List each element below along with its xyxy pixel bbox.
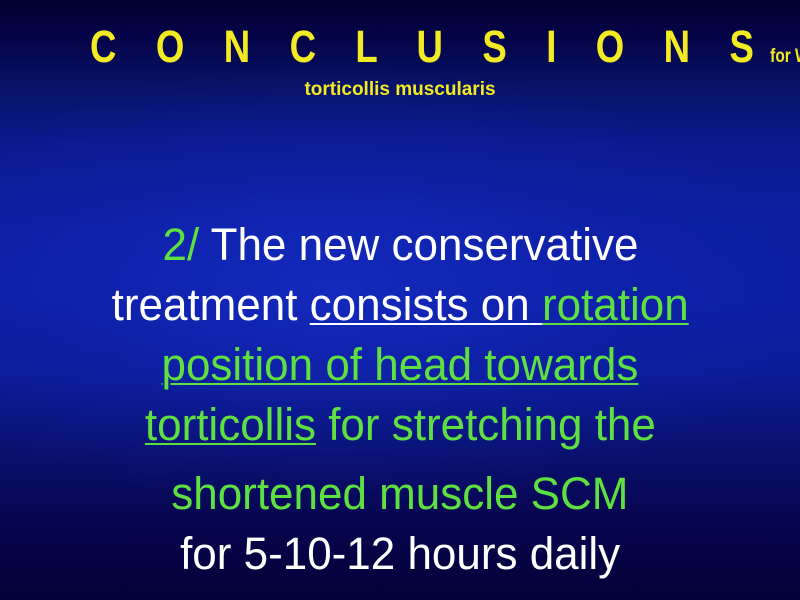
- body-line-5: shortened muscle SCM: [171, 464, 628, 524]
- body-text-run: 2/: [162, 219, 199, 270]
- body-line-6: for 5-10-12 hours daily: [180, 524, 620, 584]
- body-text-run: consists on: [310, 279, 530, 330]
- slide-body: 2/ The new conservative treatment consis…: [0, 215, 800, 584]
- page-subtitle: torticollis muscularis: [0, 80, 800, 99]
- header-title-row: C O N C L U S I O N Sfor Wry neck /: [90, 24, 800, 69]
- body-text-run: torticollis: [145, 399, 316, 450]
- body-line-4: torticollis for stretching the: [145, 395, 656, 455]
- body-text-run: shortened muscle SCM: [171, 468, 628, 519]
- body-text-run: [530, 279, 542, 330]
- body-text-run: treatment: [111, 279, 309, 330]
- page-title-suffix: for Wry neck /: [770, 46, 800, 67]
- slide-header: C O N C L U S I O N Sfor Wry neck / tort…: [0, 24, 800, 99]
- presentation-slide: C O N C L U S I O N Sfor Wry neck / tort…: [0, 0, 800, 600]
- body-text-run: for stretching the: [316, 399, 656, 450]
- body-text-run: The new conservative: [199, 219, 638, 270]
- body-line-2: treatment consists on rotation: [111, 275, 688, 335]
- body-text-run: rotation: [542, 279, 689, 330]
- body-line-1: 2/ The new conservative: [162, 215, 638, 275]
- page-title: C O N C L U S I O N S: [90, 21, 769, 72]
- body-text-run: for 5-10-12 hours daily: [180, 528, 620, 579]
- body-text-run: position of head towards: [162, 339, 639, 390]
- body-line-3: position of head towards: [162, 335, 639, 395]
